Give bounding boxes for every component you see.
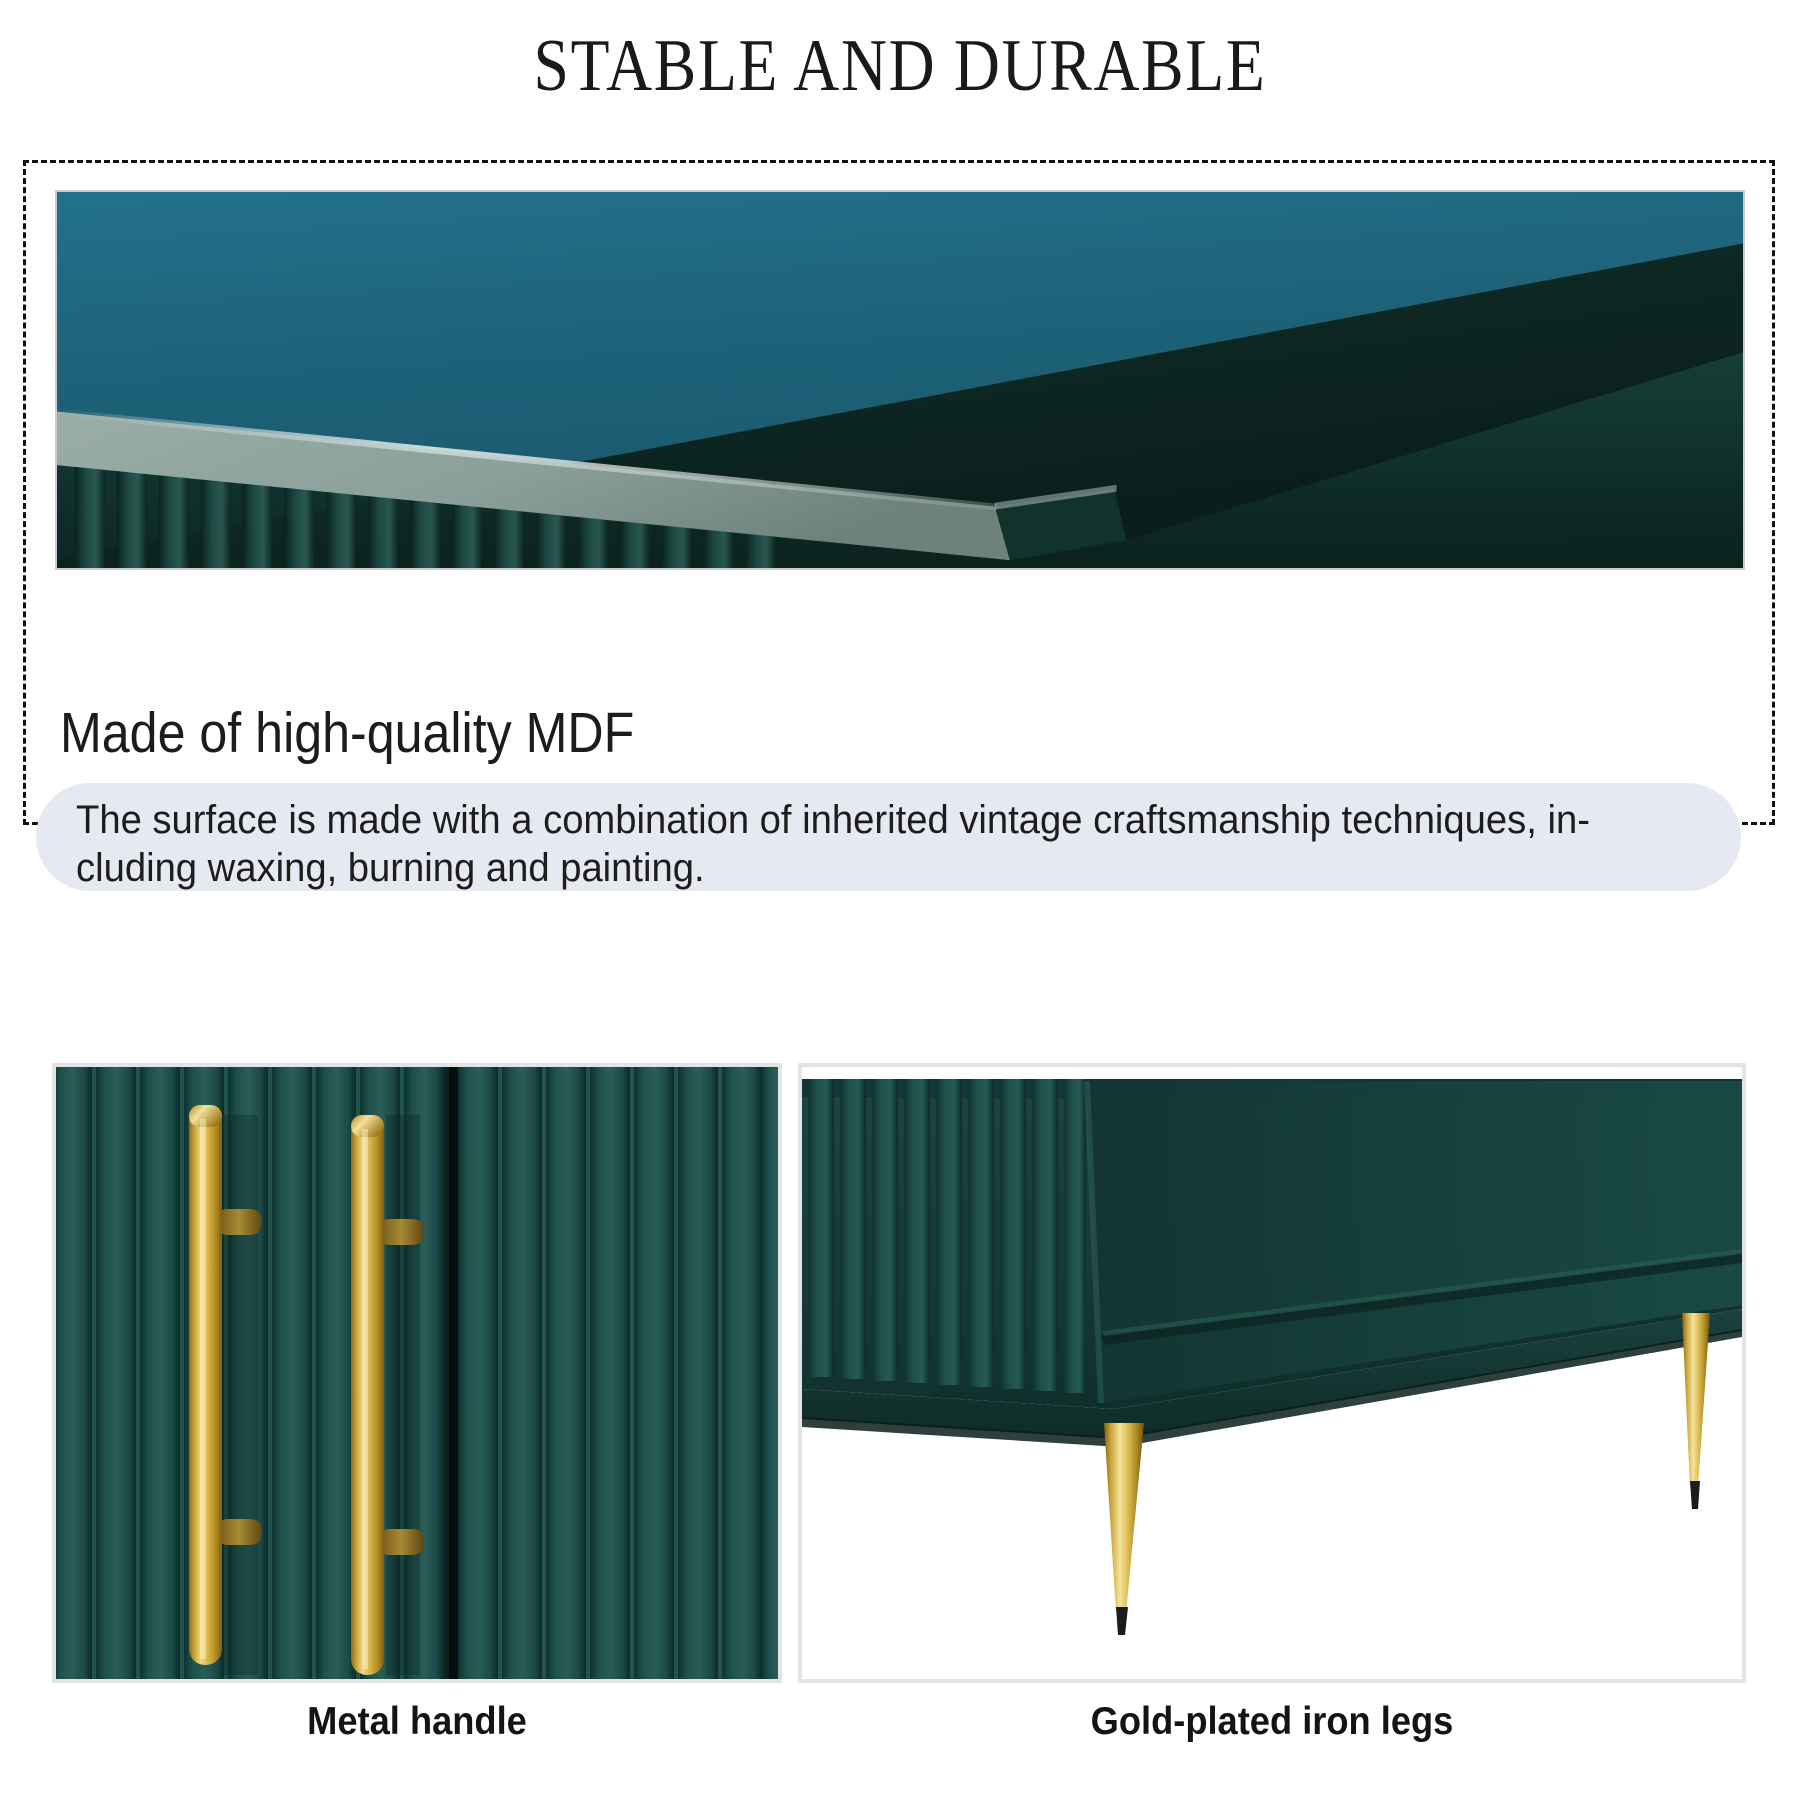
caption-metal-handle: Metal handle — [78, 1698, 757, 1746]
cabinet-corner-legs-illustration — [802, 1067, 1742, 1679]
metal-handle-photo — [52, 1063, 782, 1683]
page-title: STABLE AND DURABLE — [126, 22, 1674, 110]
section-heading: Made of high-quality MDF — [60, 700, 634, 766]
cabinet-top-surface-photo — [55, 190, 1745, 570]
gold-legs-photo — [798, 1063, 1746, 1683]
fluted-doors-illustration — [56, 1067, 778, 1679]
cabinet-top-surface-illustration — [57, 192, 1743, 568]
description-callout: The surface is made with a combination o… — [36, 783, 1741, 891]
description-text: The surface is made with a combination o… — [76, 796, 1609, 892]
caption-gold-legs: Gold-plated iron legs — [831, 1698, 1713, 1746]
